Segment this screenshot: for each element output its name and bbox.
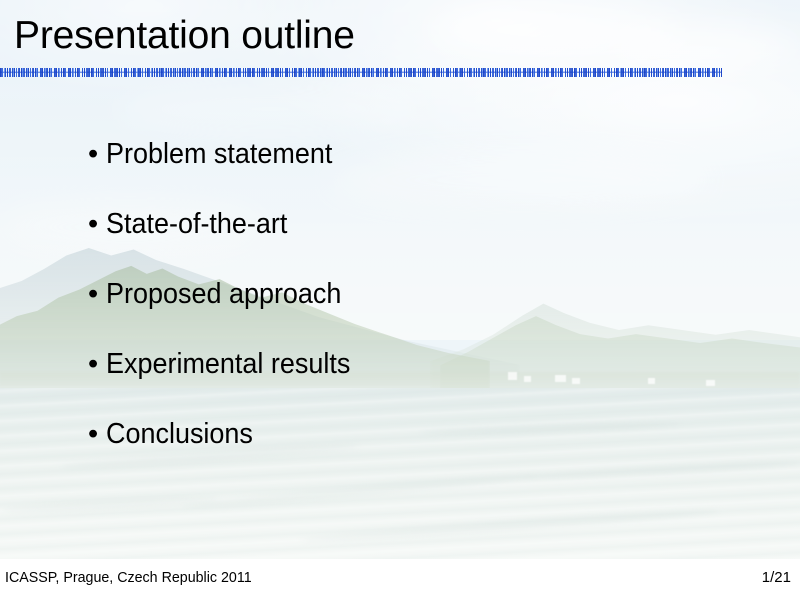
- bullet-marker-icon: •: [88, 420, 106, 449]
- bullet-item-problem-statement: • Problem statement: [88, 138, 748, 208]
- bullet-item-proposed-approach: • Proposed approach: [88, 278, 748, 348]
- bullet-label: Problem statement: [106, 138, 332, 171]
- bullet-label: Proposed approach: [106, 278, 341, 311]
- bullet-label: Experimental results: [106, 348, 350, 381]
- footer-conference-text: ICASSP, Prague, Czech Republic 2011: [5, 568, 252, 587]
- slide-title: Presentation outline: [14, 14, 355, 58]
- bullet-marker-icon: •: [88, 210, 106, 239]
- bullet-marker-icon: •: [88, 350, 106, 379]
- footer-page-number: 1/21: [762, 568, 791, 587]
- bullet-label: Conclusions: [106, 418, 253, 451]
- bullet-marker-icon: •: [88, 280, 106, 309]
- bullet-label: State-of-the-art: [106, 208, 287, 241]
- cloud-shape: [120, 86, 420, 132]
- presentation-slide: Presentation outline • Problem statement…: [0, 0, 800, 598]
- bullet-item-state-of-the-art: • State-of-the-art: [88, 208, 748, 278]
- bullet-item-conclusions: • Conclusions: [88, 418, 748, 488]
- cloud-shape: [610, 26, 800, 70]
- title-divider-rule: [0, 68, 722, 77]
- divider-texture: [0, 68, 722, 77]
- slide-footer: ICASSP, Prague, Czech Republic 2011 1/21: [0, 559, 800, 598]
- bullet-marker-icon: •: [88, 140, 106, 169]
- outline-bullet-list: • Problem statement • State-of-the-art •…: [88, 138, 748, 488]
- bullet-item-experimental-results: • Experimental results: [88, 348, 748, 418]
